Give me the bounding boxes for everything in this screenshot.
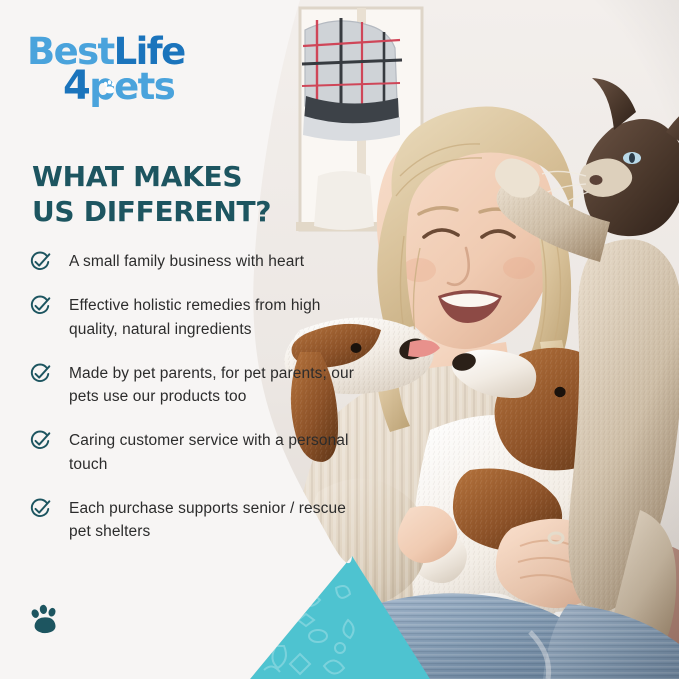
logo-line-2: 4pets: [63, 66, 174, 106]
check-circle-icon: [29, 498, 51, 520]
benefits-list: A small family business with heart Effec…: [29, 250, 359, 543]
list-item-label: Made by pet parents, for pet parents; ou…: [69, 362, 354, 409]
logo-pets-wrap: pets: [89, 68, 174, 105]
list-item-label: A small family business with heart: [69, 250, 304, 273]
check-circle-icon: [29, 295, 51, 317]
headline-line-1: WHAT MAKES: [32, 160, 312, 195]
marketing-poster: BestLife 4pets WHAT MAKES US DIFFERENT?: [0, 0, 679, 679]
paw-print-icon: [102, 80, 117, 94]
list-item: A small family business with heart: [29, 250, 359, 273]
list-item-label: Each purchase supports senior / rescue p…: [69, 497, 354, 544]
list-item: Made by pet parents, for pet parents; ou…: [29, 362, 359, 409]
content-column: BestLife 4pets WHAT MAKES US DIFFERENT?: [0, 0, 300, 679]
list-item-label: Caring customer service with a personal …: [69, 429, 354, 476]
check-circle-icon: [29, 363, 51, 385]
list-item: Effective holistic remedies from high qu…: [29, 294, 359, 341]
logo-four-text: 4: [63, 63, 89, 109]
check-circle-icon: [29, 251, 51, 273]
list-item: Caring customer service with a personal …: [29, 429, 359, 476]
list-item: Each purchase supports senior / rescue p…: [29, 497, 359, 544]
paw-print-icon: [28, 604, 62, 636]
check-circle-icon: [29, 430, 51, 452]
headline-line-2: US DIFFERENT?: [32, 195, 312, 230]
page-title: WHAT MAKES US DIFFERENT?: [32, 160, 312, 229]
list-item-label: Effective holistic remedies from high qu…: [69, 294, 354, 341]
brand-logo[interactable]: BestLife 4pets: [27, 33, 207, 111]
